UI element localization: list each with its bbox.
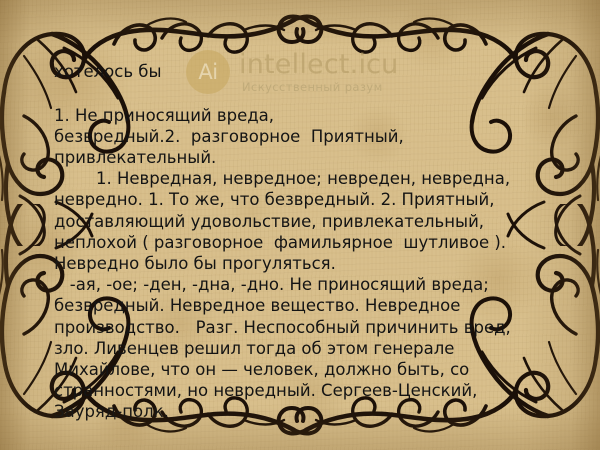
entry-line-1: 1. Не приносящий вреда, <box>54 105 554 126</box>
entry-line-10: безвредный. Невредное вещество. Невредно… <box>54 295 554 316</box>
lead-phrase: хотелось бы <box>54 62 554 83</box>
entry-line-12: зло. Ливенцев решил тогда об этом генера… <box>54 338 554 359</box>
entry-line-2: безвредный.2. разговорное Приятный, <box>54 126 554 147</box>
entry-line-8: Невредно было бы прогуляться. <box>54 253 554 274</box>
entry-line-11: производство. Разг. Неспособный причинит… <box>54 317 554 338</box>
entry-line-3: привлекательный. <box>54 147 554 168</box>
entry-line-13: Михайлове, что он — человек, должно быть… <box>54 359 554 380</box>
dictionary-text: хотелось бы 1. Не приносящий вреда, безв… <box>54 62 554 422</box>
parchment-page: Ai intellect.icu Искусственный разум хот… <box>0 0 600 450</box>
entry-line-7: неплохой ( разговорное фамильярное шутли… <box>54 232 554 253</box>
entry-line-14: странностями, но невредный. Сергеев-Ценс… <box>54 380 554 401</box>
entry-line-15: Зауряд-полк. <box>54 401 554 422</box>
entry-line-9: -ая, -ое; -ден, -дна, -дно. Не приносящи… <box>54 274 554 295</box>
entry-line-4: 1. Невредная, невредное; невреден, невре… <box>54 168 554 189</box>
entry-line-6: доставляющий удовольствие, привлекательн… <box>54 211 554 232</box>
entry-line-5: невредно. 1. То же, что безвредный. 2. П… <box>54 189 554 210</box>
